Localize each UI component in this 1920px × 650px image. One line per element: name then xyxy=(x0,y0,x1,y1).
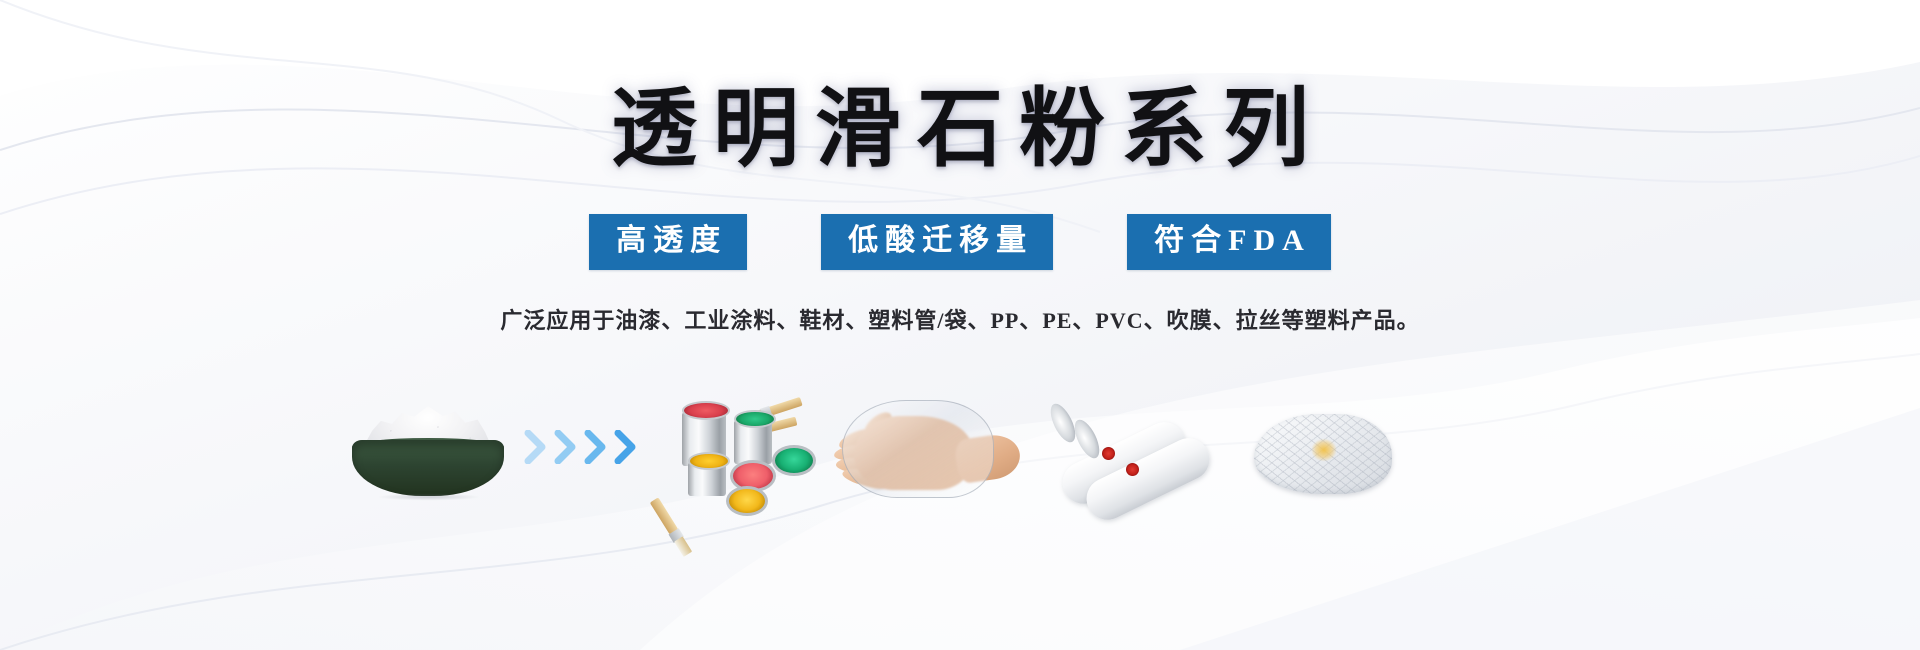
chevron-right-icon-1 xyxy=(524,430,550,464)
film-roll-back-logo xyxy=(1102,447,1115,460)
paint-can-yellow-top xyxy=(688,452,730,470)
paint-can-green-top xyxy=(734,410,776,428)
badge-fda-compliant[interactable]: 符合FDA xyxy=(1127,214,1331,270)
film-roll-front-logo xyxy=(1126,463,1139,476)
paint-cans-image xyxy=(630,384,810,502)
transparent-glove-film xyxy=(842,400,994,498)
paint-lid-green xyxy=(772,445,816,476)
shoe-sole-image xyxy=(1248,390,1398,502)
green-bowl xyxy=(352,440,504,496)
badge-low-acid-migration[interactable]: 低酸迁移量 xyxy=(821,214,1053,270)
paint-brush-front xyxy=(649,497,693,558)
sole-highlight xyxy=(1306,434,1342,466)
banner-description: 广泛应用于油漆、工业涂料、鞋材、塑料管/袋、PP、PE、PVC、吹膜、拉丝等塑料… xyxy=(500,310,1419,332)
badge-high-transparency[interactable]: 高透度 xyxy=(589,214,747,270)
banner-title: 透明滑石粉系列 xyxy=(595,86,1325,172)
chevron-right-icon-3 xyxy=(584,430,610,464)
banner-content: 透明滑石粉系列 高透度 低酸迁移量 符合FDA 广泛应用于油漆、工业涂料、鞋材、… xyxy=(0,0,1920,650)
talc-powder-bowl-image xyxy=(338,392,518,502)
shoe-sole xyxy=(1254,414,1392,494)
bowl-drop-shadow xyxy=(356,492,502,502)
paint-can-red-top xyxy=(682,401,730,420)
process-arrows-icon xyxy=(524,430,640,464)
paint-lid-yellow xyxy=(726,486,768,516)
application-image-strip xyxy=(0,362,1920,502)
product-banner: 透明滑石粉系列 高透度 低酸迁移量 符合FDA 广泛应用于油漆、工业涂料、鞋材、… xyxy=(0,0,1920,650)
chevron-right-icon-2 xyxy=(554,430,580,464)
feature-badge-list: 高透度 低酸迁移量 符合FDA xyxy=(589,214,1331,270)
plastic-film-rolls-image xyxy=(1050,390,1226,502)
plastic-glove-hand-image xyxy=(832,392,1028,502)
